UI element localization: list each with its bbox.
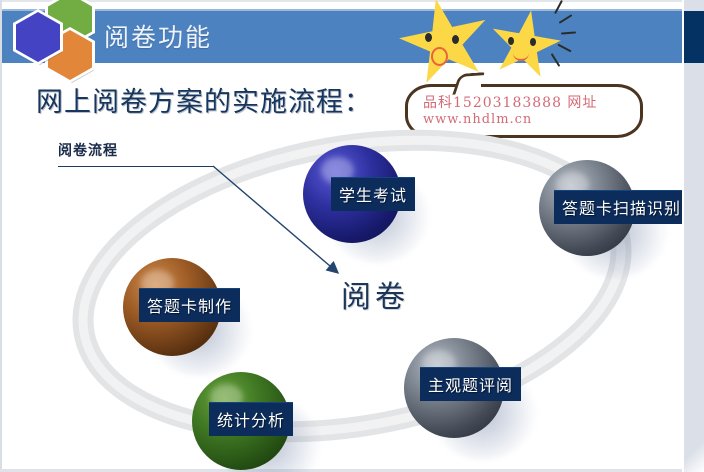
frame-top-border <box>0 0 704 2</box>
header-title: 阅卷功能 <box>104 18 212 54</box>
right-rail <box>684 0 704 472</box>
node-label: 答题卡制作 <box>139 288 240 322</box>
slide-canvas: 阅卷功能 网上阅卷方案的实施流程： 品科15203183888 网 <box>0 0 704 472</box>
node-label: 答题卡扫描识别 <box>554 190 689 224</box>
center-label: 阅卷 <box>341 272 409 316</box>
hexagon-blue-icon <box>16 12 60 62</box>
node-label: 学生考试 <box>331 177 415 211</box>
node-label: 主观题评阅 <box>420 367 521 401</box>
callout-underline <box>58 166 213 167</box>
right-rail-navy-block <box>684 11 704 63</box>
callout-label: 阅卷流程 <box>58 140 118 160</box>
right-rail-sheen <box>684 440 704 472</box>
node-label: 统计分析 <box>209 402 293 436</box>
